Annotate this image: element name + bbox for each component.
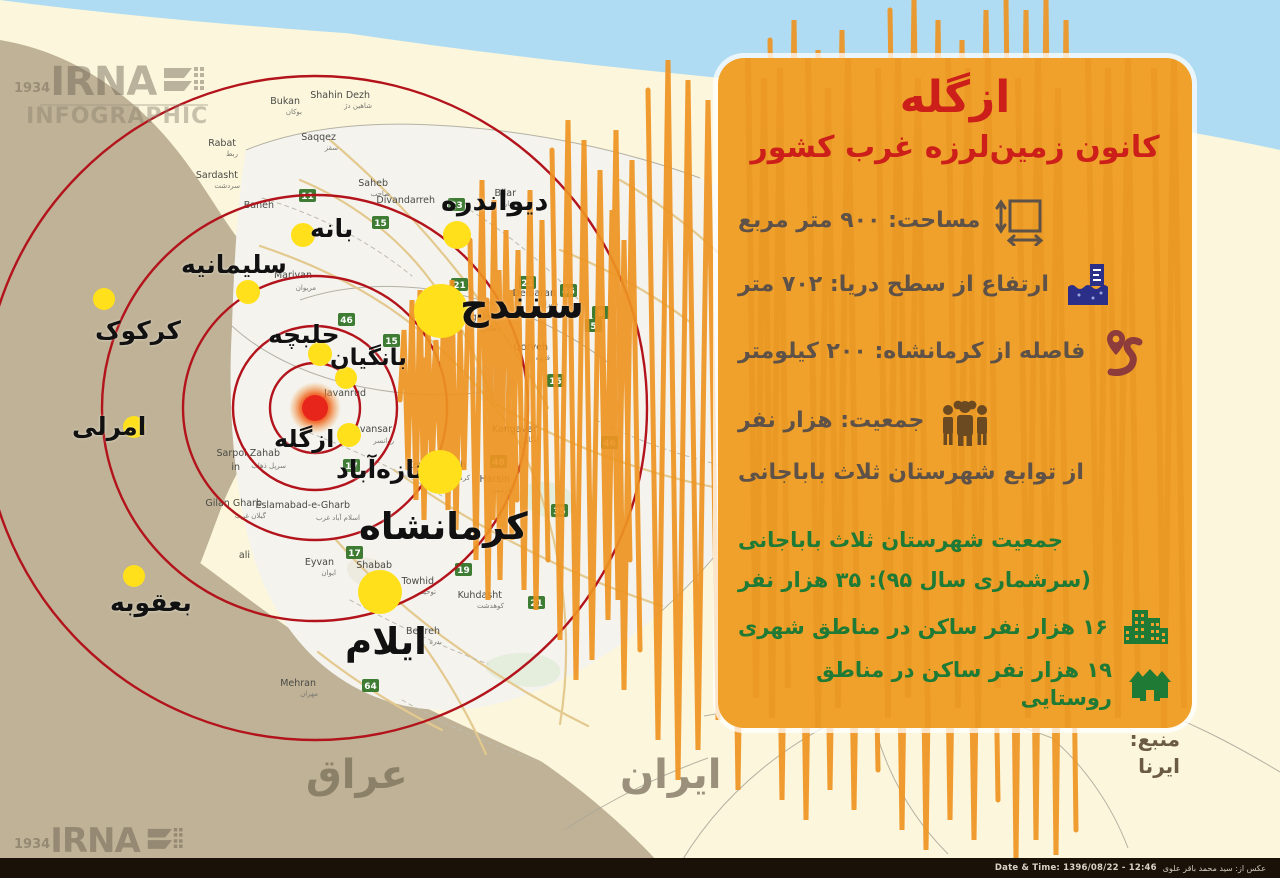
svg-text:Rabat: Rabat — [208, 138, 236, 149]
county-population-text-1: جمعیت شهرستان ثلاث باباجانی — [738, 526, 1063, 554]
county-population-line-2: (سرشماری سال ۹۵): ۳۵ هزار نفر — [738, 566, 1174, 594]
irna-mark-icon-footer — [146, 824, 186, 858]
svg-text:19: 19 — [457, 566, 470, 576]
infographic-label: INFOGRAPHIC — [14, 104, 208, 129]
fact-county: از توابع شهرستان ثلاث باباجانی — [738, 458, 1174, 488]
svg-text:بوکان: بوکان — [286, 108, 302, 116]
panel-subtitle: کانون زمین‌لرزه غرب کشور — [718, 130, 1192, 166]
svg-text:اسلام آباد غرب: اسلام آباد غرب — [316, 513, 360, 522]
village-houses-icon — [1126, 664, 1174, 704]
logo-divider — [40, 104, 208, 106]
city-label: حلبچه — [268, 320, 340, 349]
svg-text:Sardasht: Sardasht — [196, 170, 238, 181]
photographer-credit: عکس از: سید محمد باقر علوی — [1163, 864, 1266, 873]
irna-footer-logo: IRNA 1934 — [14, 824, 186, 858]
svg-text:Bukan: Bukan — [270, 96, 300, 107]
city-label: بعقوبه — [110, 588, 192, 617]
svg-text:46: 46 — [340, 316, 353, 326]
svg-text:Mehran: Mehran — [280, 678, 316, 689]
svg-text:Eyvan: Eyvan — [305, 557, 334, 568]
fact-sea-level: ارتفاع از سطح دریا: ۷۰۲ متر — [738, 260, 1174, 310]
area-square-icon — [994, 196, 1044, 246]
fact-population-text: جمعیت: هزار نفر — [738, 406, 924, 436]
irna-founded-year: 1934 — [14, 81, 50, 101]
info-panel: ازگله کانون زمین‌لرزه غرب کشور مساحت: ۹۰… — [718, 58, 1192, 728]
county-population-text-2: (سرشماری سال ۹۵): ۳۵ هزار نفر — [738, 566, 1091, 594]
route-pin-icon — [1099, 326, 1151, 378]
svg-text:64: 64 — [364, 682, 377, 692]
svg-text:Eslamabad-e-Gharb: Eslamabad-e-Gharb — [255, 500, 350, 511]
county-population-line-1: جمعیت شهرستان ثلاث باباجانی — [738, 526, 1174, 554]
svg-text:11: 11 — [301, 192, 314, 202]
urban-population-row: ۱۶ هزار نفر ساکن در مناطق شهری — [738, 606, 1174, 648]
svg-text:ایوان: ایوان — [321, 569, 336, 577]
irna-infographic-logo: IRNA 1934 INFOGRAPHIC — [14, 62, 208, 129]
irna-wordmark: IRNA — [50, 63, 156, 101]
fact-population: جمعیت: هزار نفر — [738, 396, 1174, 446]
rural-population-text: ۱۹ هزار نفر ساکن در مناطق روستایی — [738, 656, 1112, 713]
city-dot — [358, 570, 402, 614]
city-label: ازگله — [274, 425, 334, 453]
fact-distance-text: فاصله از کرمانشاه: ۲۰۰ کیلومتر — [738, 337, 1085, 367]
fact-area-text: مساحت: ۹۰۰ متر مربع — [738, 206, 980, 236]
city-label: سلیمانیه — [181, 250, 287, 279]
city-dot — [443, 221, 471, 249]
sea-level-icon — [1063, 260, 1113, 310]
svg-text:15: 15 — [374, 219, 387, 229]
svg-text:بدره: بدره — [429, 638, 442, 646]
svg-text:Towhid: Towhid — [401, 576, 434, 587]
fact-area: مساحت: ۹۰۰ متر مربع — [738, 196, 1174, 246]
fact-county-text: از توابع شهرستان ثلاث باباجانی — [738, 458, 1084, 488]
irna-founded-year-footer: 1934 — [14, 837, 50, 857]
rural-population-row: ۱۹ هزار نفر ساکن در مناطق روستایی — [738, 656, 1174, 713]
svg-text:Divandarreh: Divandarreh — [376, 195, 435, 206]
city-dot — [418, 450, 462, 494]
svg-text:سقز: سقز — [324, 144, 338, 152]
svg-text:شاهین دژ: شاهین دژ — [343, 102, 372, 110]
city-label: ایلام — [345, 620, 427, 663]
city-label: کرکوک — [95, 316, 181, 345]
svg-text:Saheb: Saheb — [358, 178, 388, 189]
city-dot — [93, 288, 115, 310]
people-icon — [938, 396, 992, 446]
svg-text:in: in — [231, 462, 240, 473]
svg-text:17: 17 — [348, 549, 361, 559]
svg-text:کوهدشت: کوهدشت — [477, 602, 505, 610]
svg-text:مریوان: مریوان — [296, 284, 317, 292]
svg-text:ali: ali — [239, 550, 250, 561]
source-label: منبع: — [1130, 727, 1180, 751]
svg-text:Shabab: Shabab — [356, 560, 392, 571]
city-dot — [123, 565, 145, 587]
svg-text:ربط: ربط — [226, 150, 238, 158]
panel-title: ازگله — [718, 76, 1192, 120]
urban-population-text: ۱۶ هزار نفر ساکن در مناطق شهری — [738, 613, 1108, 641]
source-note: منبع: ایرنا — [0, 726, 1180, 780]
datetime-stamp: Date & Time: 1396/08/22 - 12:46 — [995, 863, 1157, 873]
city-buildings-icon — [1122, 606, 1170, 648]
city-label: بانگیان — [330, 345, 407, 371]
svg-text:مهران: مهران — [300, 690, 318, 698]
city-dot — [337, 423, 361, 447]
city-label: بانه — [310, 214, 353, 243]
city-label: تازه‌آباد — [336, 455, 424, 484]
svg-text:Gilan Gharb: Gilan Gharb — [205, 498, 262, 509]
city-label: امرلی — [72, 412, 146, 441]
infographic-canvas: 112321 154615 214617 483517 196421 8546 … — [0, 0, 1280, 878]
city-dot — [236, 280, 260, 304]
city-label: کرمانشاه — [359, 505, 528, 548]
svg-text:Shahin Dezh: Shahin Dezh — [310, 90, 370, 101]
credit-bar: عکس از: سید محمد باقر علوی Date & Time: … — [0, 858, 1280, 878]
epicenter-dot — [302, 395, 328, 421]
irna-mark-icon — [162, 62, 208, 102]
city-label: سنندج — [460, 282, 584, 328]
city-label: دیواندره — [441, 186, 548, 217]
svg-text:Saqqez: Saqqez — [301, 132, 336, 143]
source-value: ایرنا — [1138, 754, 1180, 778]
svg-text:سردشت: سردشت — [214, 182, 240, 190]
fact-distance: فاصله از کرمانشاه: ۲۰۰ کیلومتر — [738, 326, 1174, 378]
fact-sea-level-text: ارتفاع از سطح دریا: ۷۰۲ متر — [738, 270, 1049, 300]
svg-text:Kuhdasht: Kuhdasht — [458, 590, 503, 601]
irna-wordmark-footer: IRNA — [50, 825, 140, 857]
